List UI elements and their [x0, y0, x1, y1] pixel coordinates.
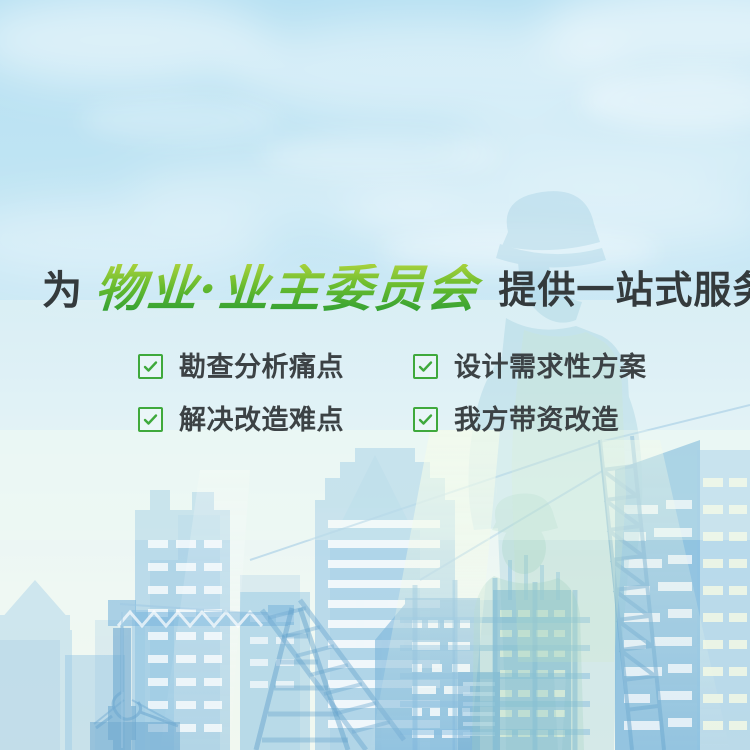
checkbox-checked-icon[interactable] — [138, 407, 163, 432]
feature-label: 我方带资改造 — [438, 405, 619, 435]
checkbox-checked-icon[interactable] — [413, 407, 438, 432]
feature-list: 勘查分析痛点 设计需求性方案 解决改造难点 — [138, 340, 688, 446]
feature-label: 解决改造难点 — [163, 405, 344, 435]
headline: 为 物业·业主委员会 提供一站式服务 — [42, 248, 732, 314]
feature-label: 勘查分析痛点 — [163, 352, 344, 382]
headline-emphasis: 物业·业主委员会 — [81, 264, 490, 314]
promo-banner: 为 物业·业主委员会 提供一站式服务 勘查分析痛点 设计需求性方案 — [0, 0, 750, 750]
headline-prefix: 为 — [42, 268, 83, 314]
feature-item-1[interactable]: 设计需求性方案 — [413, 340, 688, 393]
feature-item-2[interactable]: 解决改造难点 — [138, 393, 413, 446]
checkbox-checked-icon[interactable] — [413, 354, 438, 379]
feature-label: 设计需求性方案 — [438, 352, 647, 382]
feature-item-0[interactable]: 勘查分析痛点 — [138, 340, 413, 393]
checkbox-checked-icon[interactable] — [138, 354, 163, 379]
headline-suffix: 提供一站式服务 — [488, 268, 750, 314]
feature-item-3[interactable]: 我方带资改造 — [413, 393, 688, 446]
